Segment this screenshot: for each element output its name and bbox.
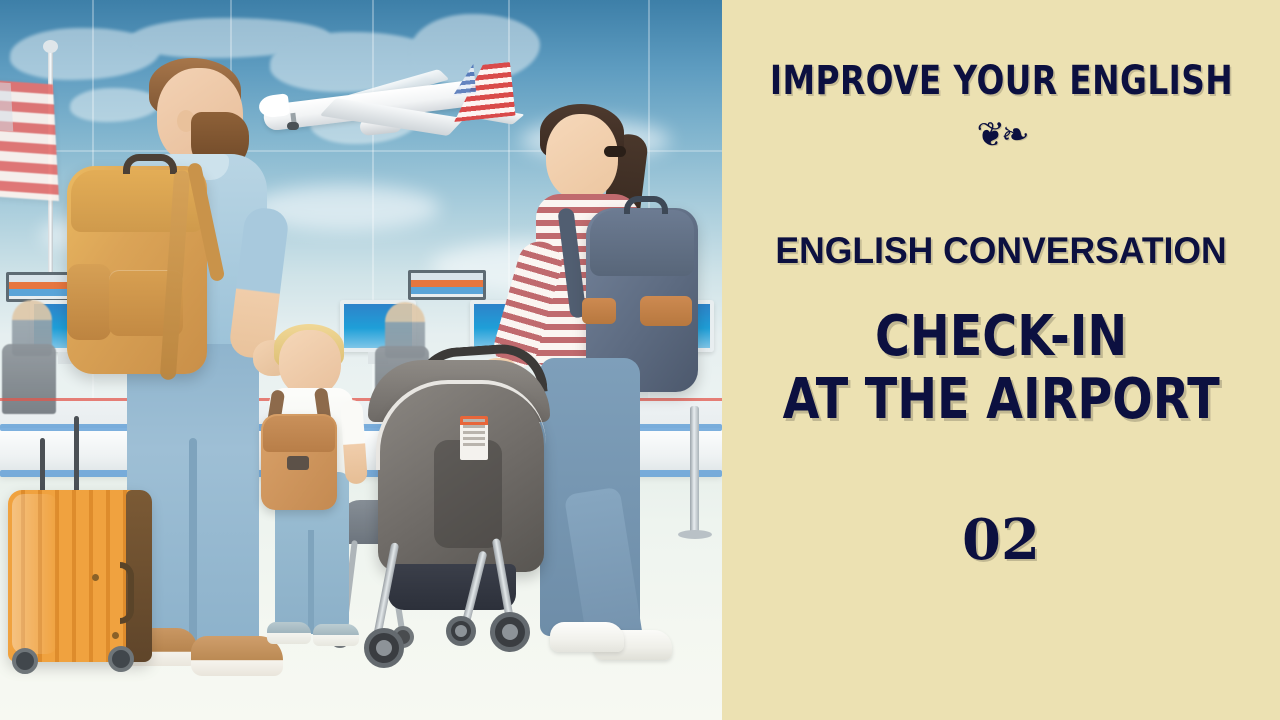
child-shoe xyxy=(267,622,311,644)
lesson-title-line1: CHECK-IN xyxy=(875,304,1127,369)
title-panel: IMPROVE YOUR ENGLISH ❦❧ ENGLISH CONVERSA… xyxy=(722,0,1280,720)
video-thumbnail-slide: IMPROVE YOUR ENGLISH ❦❧ ENGLISH CONVERSA… xyxy=(0,0,1280,720)
orange-rolling-suitcase xyxy=(8,478,158,680)
lesson-title-line2: AT THE AIRPORT xyxy=(782,369,1219,432)
agent-chair xyxy=(2,344,56,414)
counter-sign xyxy=(408,270,486,300)
baby-stroller xyxy=(350,352,600,682)
suitcase-wheel xyxy=(12,648,38,674)
airport-check-in-family-illustration xyxy=(0,0,722,720)
lesson-title: CHECK-IN AT THE AIRPORT xyxy=(782,306,1219,431)
suitcase-wheel xyxy=(108,646,134,672)
series-subtitle: ENGLISH CONVERSATION xyxy=(775,230,1226,272)
episode-number: 02 xyxy=(962,507,1040,573)
suitcase-telescoping-handle xyxy=(40,438,45,494)
decorative-flourish-icon: ❦❧ xyxy=(977,118,1026,152)
page-title: IMPROVE YOUR ENGLISH xyxy=(769,58,1232,104)
stroller-warning-label xyxy=(460,416,488,460)
suitcase-telescoping-handle xyxy=(74,416,79,494)
